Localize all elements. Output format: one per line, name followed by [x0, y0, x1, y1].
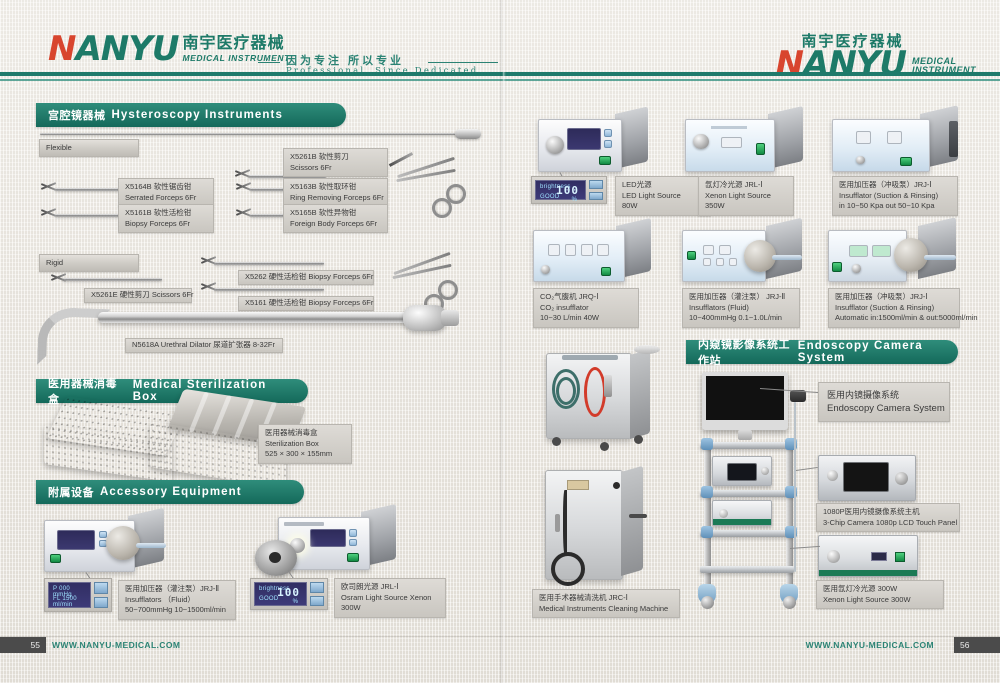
label-flex-foreign: X5165B 软性异物钳 Foreign Body Forceps 6Fr	[283, 204, 388, 233]
label-flex-serrated-cn: X5164B 软性锯齿钳	[125, 182, 207, 193]
instrument-jaw-ring	[235, 181, 251, 193]
tower-camera-unit-screen	[727, 463, 757, 481]
cleaning-machine-lower-knob	[613, 482, 620, 489]
cleaning-machine-upper-side	[630, 349, 650, 439]
section-banner-hysteroscopy: 宫腔镜器械 Hysteroscopy Instruments	[36, 103, 346, 127]
instrument-jaw-rigid-biopsy2	[200, 281, 216, 293]
label-suction-insufflator-2: 医用加压器（冲吸泵）JRJ-Ⅰ Insufflator (Suction & R…	[828, 288, 960, 328]
label-fluid2-en: Insufflators (Fluid)	[689, 303, 793, 314]
label-flex-biopsy: X5161B 软性活检钳 Biopsy Forceps 6Fr	[118, 204, 214, 233]
label-flex-ring-cn: X5163B 软性取环钳	[290, 182, 381, 193]
forceps-ring-b	[432, 198, 452, 218]
device-suction2-display-2	[872, 245, 891, 257]
footer-page-number-right-text: 56	[960, 640, 969, 650]
device-suction-rear-ports	[949, 121, 958, 157]
logo-left-wordmark-first: N	[48, 29, 75, 69]
device-led-light-source	[538, 110, 648, 172]
logo-right-wordmark-rest: ANYU	[803, 44, 906, 84]
cleaning-machine-green-hose-coil-inner	[556, 377, 576, 405]
tower-caster-left	[698, 584, 716, 604]
device-co2-display-4	[597, 244, 609, 256]
tower-light-source-unit-stripe	[713, 519, 771, 525]
device-suction2-display-1	[849, 245, 868, 257]
label-xenon-en: Xenon Light Source	[705, 191, 787, 202]
device-fluid2-tube	[772, 255, 802, 260]
device-fluid-insufflator-2	[682, 222, 802, 282]
inset-osram-lcd: brightness GOOD 100 %	[250, 578, 328, 610]
label-camera-main-unit-en: 3-Chip Camera 1080p LCD Touch Panel	[823, 518, 953, 529]
label-fluid-insufflator-cn: 医用加压器（灌注泵）JRJ-Ⅱ	[125, 584, 229, 595]
label-flex-foreign-en: Foreign Body Forceps 6Fr	[290, 219, 381, 230]
section-banner-hysteroscopy-en: Hysteroscopy Instruments	[112, 109, 283, 121]
xenon-light-source-photo-port	[827, 550, 840, 563]
label-suction2-spec: Automatic in:1500ml/min & out:5000ml/min	[835, 313, 953, 324]
label-suction-spec: in 10~50 Kpa out 50~10 Kpa	[839, 201, 951, 212]
header-rule-thin	[0, 79, 1000, 81]
label-fluid-insufflator: 医用加压器（灌注泵）JRJ-Ⅱ Insufflators （Fluid） 50~…	[118, 580, 236, 620]
cleaning-machine-spray-gun	[604, 375, 612, 397]
logo-left-text: 南宇医疗器械 MEDICAL INSTRUMENT	[182, 36, 289, 65]
tower-shelf-2	[700, 490, 794, 497]
label-xenon-300w-cn: 医用氙灯冷光源 300W	[823, 584, 937, 595]
footer-page-number-right: 56	[954, 637, 1000, 653]
tower-monitor-screen	[702, 372, 788, 430]
device-suction-display-2	[887, 131, 902, 144]
section-banner-accessory-cn: 附属设备	[48, 484, 94, 500]
instrument-jaw-scissors	[234, 168, 250, 180]
label-led-light-source: LED光源 LED Light Source 80W	[615, 176, 711, 216]
flexible-scope-handle	[455, 129, 481, 139]
device-fluid-insufflator-tube	[136, 543, 166, 548]
inset-osram-lcd-value: 100	[277, 586, 300, 599]
label-co2-cn: CO₂气腹机 JRQ-Ⅰ	[540, 292, 632, 303]
instrument-shaft-rigid-biopsy2	[214, 288, 324, 291]
device-co2-display-3	[581, 244, 593, 256]
label-flex-biopsy-en: Biopsy Forceps 6Fr	[125, 219, 207, 230]
tray-rib-1	[188, 392, 209, 433]
tower-camera-cable	[794, 402, 796, 572]
label-fluid-insufflator-2: 医用加压器（灌注泵） JRJ-Ⅱ Insufflators (Fluid) 10…	[682, 288, 800, 328]
label-sterilization-box-size: 525 × 300 × 155mm	[265, 449, 345, 460]
logo-left-wordmark: NANYU	[48, 34, 178, 65]
section-banner-camera-system: 内窥镜影像系统工作站 Endoscopy Camera System	[686, 340, 958, 364]
label-sterilization-box-cn: 医用器械消毒盒	[265, 428, 345, 439]
tower-shelf-4	[700, 566, 794, 573]
device-led-btn1	[604, 129, 611, 137]
device-xenon-buttons-group	[721, 137, 742, 148]
label-xenon-spec: 350W	[705, 201, 787, 212]
inset-fluid-key-down	[94, 597, 108, 609]
label-flex-ring: X5163B 软性取环钳 Ring Removing Forceps 6Fr	[283, 178, 388, 207]
device-fluid2-power	[687, 251, 696, 260]
inset-fluid-lcd-line2: FL 1500 ml/min	[53, 596, 90, 608]
forceps-tip	[389, 152, 413, 167]
inset-osram-lcd-panel: brightness GOOD 100 %	[254, 582, 307, 606]
cleaning-machine-upper-caster-3	[634, 435, 643, 444]
label-suction-insufflator: 医用加压器（冲吸泵）JRJ-Ⅰ Insufflator (Suction & R…	[832, 176, 958, 216]
label-xenon-light-source: 氙灯冷光源 JRL-Ⅰ Xenon Light Source 350W	[698, 176, 794, 216]
cleaning-machine-lower-hose-coil	[551, 552, 585, 586]
inset-led-key-up	[589, 180, 603, 189]
device-xenon-brandstrip	[711, 126, 748, 129]
label-suction2-cn: 医用加压器（冲吸泵）JRJ-Ⅰ	[835, 292, 953, 303]
device-suction2-port	[852, 264, 861, 273]
instrument-jaw-rigid-biopsy1	[200, 255, 216, 267]
device-co2-insufflator	[533, 222, 651, 282]
inset-fluid-insufflator-lcd: P 000 mmHg FL 1500 ml/min	[44, 578, 112, 612]
label-suction-cn: 医用加压器（冲吸泵）JRJ-Ⅰ	[839, 180, 951, 191]
inset-led-lcd-panel: brightness GOOD 100 %	[535, 180, 586, 200]
label-camera-system: 医用内镜摄像系统 Endoscopy Camera System	[818, 382, 950, 422]
page-seam	[500, 0, 506, 683]
tower-caster-right	[780, 584, 798, 604]
label-co2-insufflator: CO₂气腹机 JRQ-Ⅰ CO₂ insufflator 10~30 L/min…	[533, 288, 639, 328]
label-flex-serrated-en: Serrated Forceps 6Fr	[125, 193, 207, 204]
device-xenon-power	[756, 143, 765, 154]
header-rule-thick	[0, 72, 1000, 76]
label-xenon-cn: 氙灯冷光源 JRL-Ⅰ	[705, 180, 787, 191]
inset-led-keys	[589, 180, 603, 200]
device-osram-btn1	[349, 529, 357, 537]
label-rigid-biopsy-x5262: X5262 硬性活检钳 Biopsy Forceps 6Fr	[238, 270, 374, 285]
device-suction2-pump-head	[894, 238, 928, 272]
instrument-jaw-foreign	[235, 207, 251, 219]
inset-led-key-down	[589, 192, 603, 201]
camera-main-unit-knob	[827, 470, 838, 481]
label-camera-main-unit-cn: 1080P医用内镜摄像系统主机	[823, 507, 953, 518]
cleaning-machine-lower-handle	[555, 514, 560, 532]
logo-left-wordmark-rest: ANYU	[75, 29, 178, 69]
camera-main-unit-port	[895, 472, 908, 485]
cleaning-machine-upper-caster-1	[552, 437, 561, 446]
section-banner-camera-cn: 内窥镜影像系统工作站	[698, 336, 792, 368]
device-suction2-power	[832, 262, 842, 272]
section-banner-accessory: 附属设备 Accessory Equipment	[36, 480, 304, 504]
label-sterilization-box-en: Sterilization Box	[265, 439, 345, 450]
device-co2-gas-port	[541, 265, 550, 274]
device-fluid-insufflator-screen	[57, 530, 94, 550]
cleaning-machine-red-hose-coil	[584, 367, 606, 417]
device-xenon-light-port	[693, 134, 709, 149]
cleaning-machine-upper-brandstrip	[562, 355, 618, 360]
cleaning-machine-upper-caster-2	[600, 442, 609, 451]
inset-led-lcd-value: 100	[556, 184, 579, 197]
inset-led-lcd: brightness GOOD 100 %	[531, 176, 607, 204]
section-banner-camera-en: Endoscopy Camera System	[798, 340, 942, 364]
light-guide-adapter-bore	[269, 552, 281, 563]
label-fluid2-cn: 医用加压器（灌注泵） JRJ-Ⅱ	[689, 292, 793, 303]
footer-url-right[interactable]: WWW.NANYU-MEDICAL.COM	[806, 637, 934, 653]
label-flex-scissors-cn: X5261B 软性剪刀	[290, 152, 381, 163]
label-co2-en: CO₂ insufflator	[540, 303, 632, 314]
label-osram-cn: 欧司朗光源 JRL-Ⅰ	[341, 582, 439, 593]
camera-main-unit-touchscreen	[843, 462, 889, 492]
tower-joint-5	[701, 526, 713, 538]
label-flex-scissors-en: Scissors 6Fr	[290, 163, 381, 174]
subhead-rigid: Rigid	[39, 254, 139, 272]
tagline-rule-right	[428, 62, 498, 63]
tower-monitor-stand	[738, 430, 752, 440]
device-suction-insufflator	[832, 110, 958, 172]
label-cleaning-machine-cn: 医用手术器械清洗机 JRC-Ⅰ	[539, 593, 673, 604]
label-flex-ring-en: Ring Removing Forceps 6Fr	[290, 193, 381, 204]
device-fluid-insufflator-pump-head	[106, 526, 140, 560]
cleaning-machine-lower-plate	[567, 480, 589, 490]
footer-page-number-left: 55	[0, 637, 46, 653]
label-cleaning-machine: 医用手术器械清洗机 JRC-Ⅰ Medical Instruments Clea…	[532, 589, 680, 618]
tray-rib-2	[211, 395, 232, 436]
instrument-shaft-rigid-scissors	[62, 278, 162, 281]
device-co2-display-2	[565, 244, 577, 256]
cleaning-machine-upper-tray	[634, 345, 660, 354]
inset-fluid-lcd-keys	[94, 582, 108, 608]
inset-osram-keys	[310, 582, 324, 606]
device-suction-insufflator-2	[828, 222, 956, 282]
device-suction-power	[900, 157, 912, 166]
device-suction-face	[832, 119, 930, 172]
light-guide-adapter	[255, 540, 297, 576]
label-osram-spec: 300W	[341, 603, 439, 614]
inset-fluid-key-up	[94, 582, 108, 594]
instrument-shaft-rigid-biopsy1	[214, 262, 324, 265]
footer-url-left-text: WWW.NANYU-MEDICAL.COM	[52, 640, 180, 650]
flexible-scope-shaft	[40, 133, 460, 135]
device-led-btn2	[604, 140, 611, 148]
inset-led-lcd-unit: %	[572, 197, 577, 203]
tower-joint-3	[701, 486, 713, 498]
tower-joint-1	[701, 438, 713, 450]
footer-page-number-left-text: 55	[31, 640, 40, 650]
instrument-jaw-rigid-scissors	[50, 272, 66, 284]
subhead-flexible-label: Flexible	[46, 143, 72, 154]
device-co2-display-1	[548, 244, 560, 256]
label-xenon-light-300w: 医用氙灯冷光源 300W Xenon Light Source 300W	[816, 580, 944, 609]
section-banner-hysteroscopy-cn: 宫腔镜器械	[48, 107, 106, 123]
section-banner-accessory-en: Accessory Equipment	[100, 486, 242, 498]
tower-monitor	[702, 372, 788, 430]
page-header: NANYU 南宇医疗器械 MEDICAL INSTRUMENT 因为专注 所以专…	[0, 0, 1000, 84]
device-led-screen	[567, 128, 601, 151]
device-co2-face	[533, 230, 625, 282]
inset-osram-key-down	[310, 596, 324, 607]
logo-left-cn: 南宇医疗器械	[182, 36, 289, 52]
device-fluid2-key-1	[703, 258, 711, 266]
label-rigid-biopsy-x5262-text: X5262 硬性活检钳 Biopsy Forceps 6Fr	[245, 272, 373, 283]
cleaning-machine-lower	[545, 462, 675, 592]
dilator-body	[98, 312, 428, 323]
label-flex-serrated: X5164B 软性锯齿钳 Serrated Forceps 6Fr	[118, 178, 214, 207]
endoscopy-tower	[690, 372, 810, 622]
label-camera-main-unit: 1080P医用内镜摄像系统主机 3-Chip Camera 1080p LCD …	[816, 503, 960, 532]
label-fluid2-spec: 10~400mmHg 0.1~1.0L/min	[689, 313, 793, 324]
logo-left: NANYU 南宇医疗器械 MEDICAL INSTRUMENT	[48, 34, 290, 65]
xenon-light-source-photo-display	[871, 552, 887, 561]
label-led-spec: 80W	[622, 201, 704, 212]
label-fluid-insufflator-en: Insufflators （Fluid）	[125, 595, 229, 606]
tower-shelf-1	[700, 442, 794, 449]
device-suction-display-1	[856, 131, 871, 144]
device-osram-brandstrip	[284, 522, 324, 526]
label-flex-foreign-cn: X5165B 软性异物钳	[290, 208, 381, 219]
urethral-dilator-illustration	[38, 300, 458, 370]
cleaning-machine-lower-hose-run	[563, 490, 567, 554]
inset-osram-lcd-line2: GOOD	[259, 596, 279, 602]
device-xenon-light-source	[685, 110, 803, 172]
instrument-jaw-serrated	[40, 181, 56, 193]
cleaning-machine-lower-valve	[629, 514, 647, 518]
footer-url-left[interactable]: WWW.NANYU-MEDICAL.COM	[52, 637, 180, 653]
xenon-light-source-photo-stripe	[819, 570, 917, 576]
device-osram-btn2	[349, 539, 357, 547]
label-led-en: LED Light Source	[622, 191, 704, 202]
logo-right-en: MEDICAL INSTRUMENT	[912, 57, 976, 80]
device-fluid2-display-2	[719, 245, 730, 255]
label-cleaning-machine-en: Medical Instruments Cleaning Machine	[539, 604, 673, 615]
label-urethral-dilator: N5618A Urethral Dilator 尿道扩张器 8-32Fr	[125, 338, 283, 353]
device-co2-power	[601, 267, 612, 276]
device-fluid-insufflator-power	[50, 554, 61, 563]
label-osram-en: Osram Light Source Xenon	[341, 593, 439, 604]
device-fluid-insufflator	[44, 512, 164, 572]
inset-fluid-lcd-panel: P 000 mmHg FL 1500 ml/min	[48, 582, 91, 608]
label-sterilization-box: 医用器械消毒盒 Sterilization Box 525 × 300 × 15…	[258, 424, 352, 464]
tower-camera-unit	[712, 456, 772, 486]
label-suction-en: Insufflator (Suction & Rinsing)	[839, 191, 951, 202]
logo-right-wordmark-first: N	[776, 44, 803, 84]
label-fluid-insufflator-spec: 50~700mmHg 10~1500ml/min	[125, 605, 229, 616]
label-suction2-en: Insufflator (Suction & Rinsing)	[835, 303, 953, 314]
label-flex-scissors: X5261B 软性剪刀 Scissors 6Fr	[283, 148, 388, 177]
footer-url-right-text: WWW.NANYU-MEDICAL.COM	[806, 640, 934, 650]
tower-shelf-3	[700, 530, 794, 537]
inset-osram-key-up	[310, 582, 324, 593]
label-osram-light-source: 欧司朗光源 JRL-Ⅰ Osram Light Source Xenon 300…	[334, 578, 446, 618]
xenon-light-source-photo-power	[895, 552, 905, 562]
device-fluid2-key-3	[729, 258, 737, 266]
tower-light-source-unit-port	[719, 509, 728, 518]
subhead-rigid-label: Rigid	[46, 258, 63, 269]
label-urethral-dilator-text: N5618A Urethral Dilator 尿道扩张器 8-32Fr	[132, 340, 275, 351]
camera-main-unit-photo	[818, 455, 916, 501]
device-suction-port	[856, 156, 865, 164]
rigid-forceps-illustration-top	[388, 140, 498, 220]
tower-post-left	[704, 440, 711, 600]
label-led-cn: LED光源	[622, 180, 704, 191]
dilator-knob	[403, 305, 447, 331]
device-fluid2-display-1	[703, 245, 714, 255]
device-osram-power	[347, 553, 359, 562]
label-co2-spec: 10~30 L/min 40W	[540, 313, 632, 324]
tagline-rule-left	[258, 62, 280, 63]
inset-osram-lcd-unit: %	[293, 599, 298, 605]
device-osram-screen	[310, 529, 346, 547]
device-fluid2-key-2	[716, 258, 724, 266]
cleaning-machine-upper	[538, 345, 658, 455]
device-xenon-face	[685, 119, 775, 172]
label-camera-system-en: Endoscopy Camera System	[827, 402, 941, 415]
device-suction2-tube	[924, 255, 956, 260]
instrument-jaw-biopsy-flex	[40, 207, 56, 219]
label-camera-system-cn: 医用内镜摄像系统	[827, 389, 941, 402]
subhead-flexible: Flexible	[39, 139, 139, 157]
tower-post-right	[786, 440, 793, 600]
tray-rib-3	[234, 399, 255, 440]
tower-light-source-unit	[712, 500, 772, 526]
label-xenon-300w-en: Xenon Light Source 300W	[823, 595, 937, 606]
tower-camera-unit-knob	[761, 467, 769, 475]
xenon-light-source-photo	[818, 535, 918, 577]
device-led-light-port	[546, 136, 564, 154]
label-flex-biopsy-cn: X5161B 软性活检钳	[125, 208, 207, 219]
cleaning-machine-lower-side	[621, 466, 643, 576]
device-led-power	[599, 156, 610, 165]
